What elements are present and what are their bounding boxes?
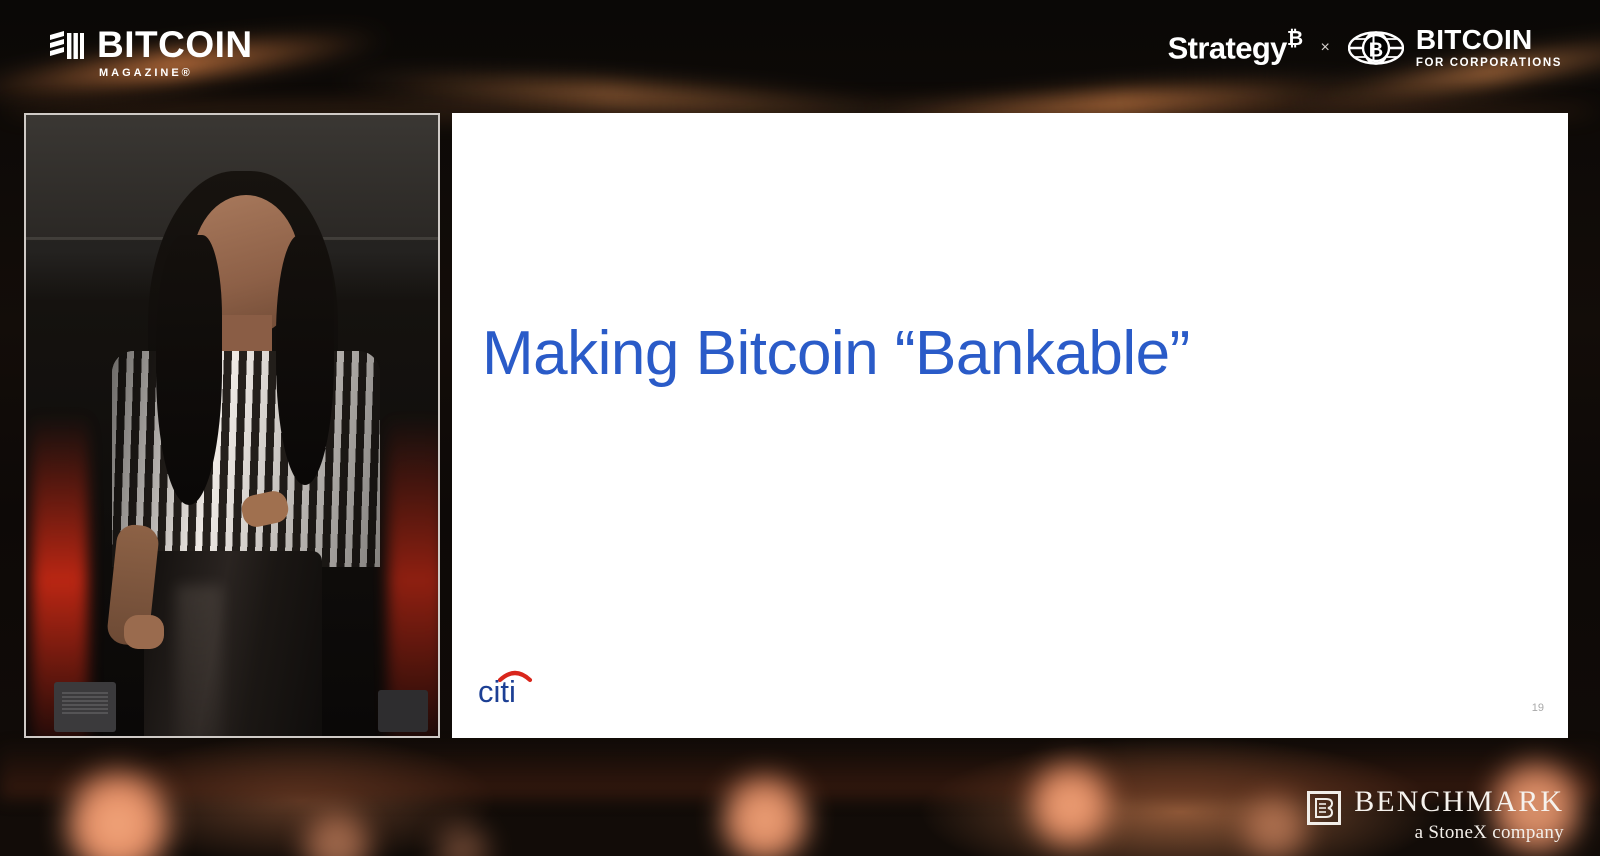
slide-page-number: 19 xyxy=(1532,702,1544,714)
bfc-subtitle: FOR CORPORATIONS xyxy=(1416,58,1562,70)
broadcast-stage: BITCOIN MAGAZINE® Strategy₿ × B BITCOIN xyxy=(0,0,1600,856)
strategy-wordmark: Strategy xyxy=(1168,30,1287,65)
speaker-skirt xyxy=(144,551,322,738)
bitcoin-symbol-icon: ₿ xyxy=(1287,28,1303,50)
bitcoin-magazine-subtitle: MAGAZINE® xyxy=(99,68,253,79)
benchmark-mark-icon xyxy=(1307,791,1341,825)
bitcoin-for-corporations-logo: B BITCOIN FOR CORPORATIONS xyxy=(1348,26,1562,70)
bitcoin-magazine-title: BITCOIN xyxy=(97,26,253,63)
bfc-title: BITCOIN xyxy=(1416,26,1562,54)
benchmark-b-icon xyxy=(1315,798,1333,818)
monitor-grille xyxy=(62,692,108,714)
speaker-hair-front xyxy=(156,235,222,505)
presentation-slide[interactable]: Making Bitcoin “Bankable” citi 19 xyxy=(452,113,1568,738)
stage-monitor xyxy=(378,690,428,732)
svg-text:citi: citi xyxy=(478,674,516,706)
benchmark-tagline: a StoneX company xyxy=(1415,823,1564,842)
slide-title: Making Bitcoin “Bankable” xyxy=(482,318,1190,389)
benchmark-logo: BENCHMARK a StoneX company xyxy=(1307,787,1564,842)
bitcoin-globe-icon: B xyxy=(1348,28,1404,68)
citi-logo: citi xyxy=(478,664,552,706)
strategy-logo: Strategy₿ xyxy=(1168,30,1303,66)
stage-monitor xyxy=(54,682,116,732)
speaker-video-feed[interactable] xyxy=(24,113,440,738)
benchmark-title: BENCHMARK xyxy=(1354,787,1564,817)
bitcoin-magazine-logo: BITCOIN MAGAZINE® xyxy=(50,26,253,79)
x-separator: × xyxy=(1321,39,1330,57)
bitcoin-magazine-mark-icon xyxy=(50,31,84,61)
speaker-skirt-highlight xyxy=(176,585,222,738)
partner-logos: Strategy₿ × B BITCOIN FOR CORPORATIONS xyxy=(1168,26,1562,70)
speaker-hair-front xyxy=(276,235,334,485)
svg-text:B: B xyxy=(1369,39,1383,61)
speaker-hand xyxy=(124,615,164,649)
